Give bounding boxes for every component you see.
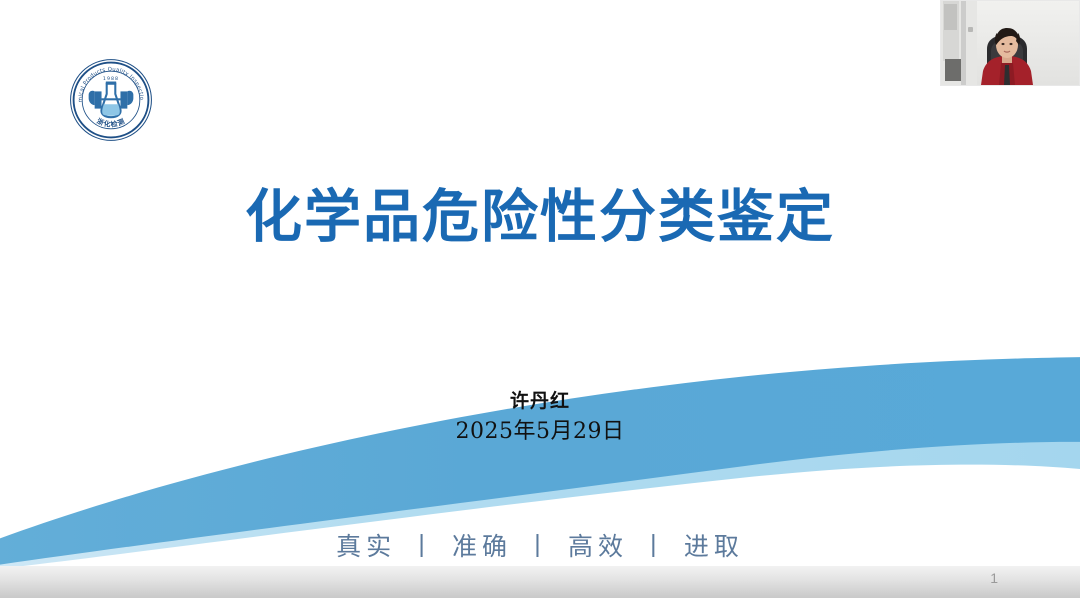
slide-title: 化学品危险性分类鉴定 (0, 186, 1080, 250)
bottom-status-bar (0, 566, 1080, 598)
company-slogan: 真实 丨 准确 丨 高效 丨 进取 (0, 527, 1080, 563)
company-logo-icon: Chemical Products Quality Inspection Co … (68, 57, 154, 143)
svg-text:1988: 1988 (103, 76, 119, 82)
presenter-name: 许丹红 (0, 390, 1080, 414)
page-number: 1 (990, 570, 998, 586)
presentation-slide: Chemical Products Quality Inspection Co … (0, 0, 1080, 566)
presentation-date: 2025年5月29日 (0, 417, 1080, 447)
presenter-webcam-video[interactable] (940, 0, 1080, 86)
presenter-block: 许丹红 2025年5月29日 (0, 390, 1080, 446)
screen-capture: Chemical Products Quality Inspection Co … (0, 0, 1080, 598)
